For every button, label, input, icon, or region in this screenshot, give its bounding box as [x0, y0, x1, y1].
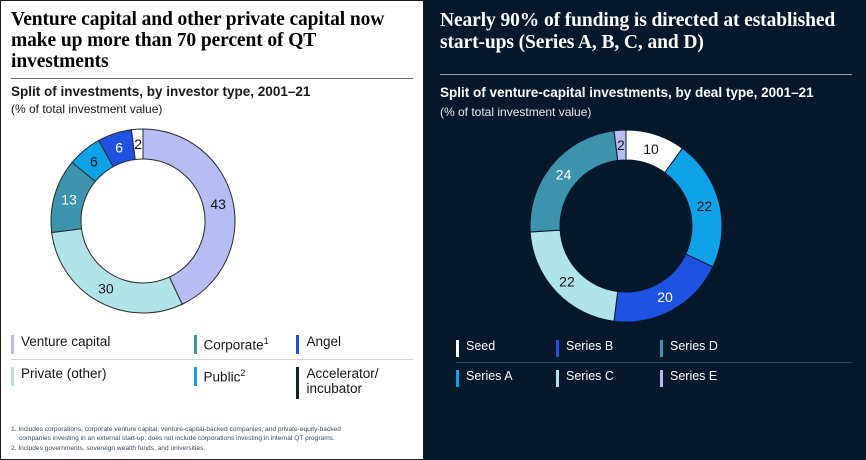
legend-swatch — [556, 370, 559, 387]
left-subtitle: Split of investments, by investor type, … — [11, 84, 413, 100]
donut-slice[interactable] — [665, 148, 722, 267]
right-donut-chart: 10222022242 — [506, 121, 746, 331]
donut-slice[interactable] — [530, 131, 618, 232]
footnote-1: 1. Includes corporations, corporate vent… — [11, 425, 413, 443]
left-donut-chart: 433013662 — [33, 120, 253, 325]
left-headline-rule — [11, 78, 413, 79]
legend-swatch — [296, 335, 299, 354]
donut-slice[interactable] — [143, 129, 235, 304]
legend-item-public[interactable]: Public2 — [194, 366, 297, 386]
right-donut-svg: 10222022242 — [506, 121, 746, 331]
donut-slice[interactable] — [52, 229, 182, 313]
left-donut-svg: 433013662 — [33, 120, 253, 325]
legend-label: Series D — [670, 339, 718, 354]
legend-swatch — [456, 340, 459, 357]
legend-item-private-other[interactable]: Private (other) — [11, 366, 194, 386]
legend-swatch — [556, 340, 559, 357]
footnote-marker: 2 — [240, 368, 245, 378]
legend-swatch — [660, 370, 663, 387]
right-legend: Seed Series B Series D Series A — [440, 339, 852, 387]
legend-row: Private (other) Public2 Accelerator/ inc… — [11, 366, 413, 399]
legend-item-accelerator-incubator[interactable]: Accelerator/ incubator — [296, 366, 413, 399]
donut-slice-value: 2 — [134, 136, 142, 152]
legend-divider — [11, 359, 413, 360]
legend-label: Series C — [566, 369, 614, 384]
right-headline: Nearly 90% of funding is directed at est… — [440, 10, 852, 54]
legend-swatch — [456, 370, 459, 387]
donut-slice-value: 13 — [61, 191, 77, 207]
legend-swatch — [11, 367, 14, 386]
donut-slice-value: 22 — [697, 198, 713, 214]
left-footnotes: 1. Includes corporations, corporate vent… — [11, 425, 413, 454]
right-chart-area: 10222022242 — [440, 121, 852, 331]
legend-label: Series B — [566, 339, 613, 354]
legend-label: Private (other) — [21, 366, 107, 381]
donut-slice-value: 20 — [657, 289, 673, 305]
legend-row: Venture capital Corporate1 Angel — [11, 334, 413, 354]
left-legend: Venture capital Corporate1 Angel Private… — [11, 334, 413, 399]
legend-item-seed[interactable]: Seed — [456, 339, 556, 357]
footnote-1-line-1: 1. Includes corporations, corporate vent… — [11, 426, 341, 433]
legend-label: Accelerator/ incubator — [306, 366, 398, 396]
legend-item-series-c[interactable]: Series C — [556, 369, 660, 387]
legend-item-angel[interactable]: Angel — [296, 334, 413, 354]
legend-label: Venture capital — [21, 334, 110, 349]
donut-slice-value: 24 — [556, 166, 572, 182]
footnote-2: 2. Includes governments, sovereign wealt… — [11, 444, 413, 453]
legend-swatch — [194, 335, 197, 354]
donut-slice-value: 22 — [559, 273, 575, 289]
legend-row: Series A Series C Series E — [456, 369, 852, 387]
legend-item-corporate[interactable]: Corporate1 — [194, 334, 297, 354]
legend-swatch — [194, 367, 197, 386]
left-panel: Venture capital and other private capita… — [0, 0, 424, 460]
right-panel: Nearly 90% of funding is directed at est… — [424, 0, 866, 460]
legend-label: Public2 — [204, 366, 246, 385]
legend-item-venture-capital[interactable]: Venture capital — [11, 334, 194, 354]
legend-label: Angel — [306, 334, 341, 349]
legend-item-series-a[interactable]: Series A — [456, 369, 556, 387]
legend-label: Seed — [466, 339, 495, 354]
right-units: (% of total investment value) — [440, 105, 852, 119]
donut-slice-value: 6 — [115, 140, 123, 156]
right-subtitle: Split of venture-capital investments, by… — [440, 84, 852, 101]
donut-slice-value: 10 — [643, 141, 659, 157]
footnote-1-line-2: companies investing in an external start… — [11, 434, 413, 443]
right-headline-rule — [440, 74, 852, 75]
legend-item-series-b[interactable]: Series B — [556, 339, 660, 357]
legend-item-series-d[interactable]: Series D — [660, 339, 770, 357]
left-units: (% of total investment value) — [11, 102, 413, 116]
donut-slice-value: 2 — [617, 137, 625, 153]
footnote-marker: 1 — [264, 336, 269, 346]
figure-pair: Venture capital and other private capita… — [0, 0, 866, 460]
legend-swatch — [660, 340, 663, 357]
left-headline: Venture capital and other private capita… — [11, 9, 413, 72]
legend-label: Series E — [670, 369, 717, 384]
left-chart-area: 433013662 — [11, 120, 413, 328]
legend-row: Seed Series B Series D — [456, 339, 852, 357]
legend-swatch — [296, 367, 299, 399]
donut-slice-value: 30 — [98, 280, 114, 296]
donut-slice-value: 43 — [210, 196, 226, 212]
donut-slice-value: 6 — [90, 154, 98, 170]
legend-item-series-e[interactable]: Series E — [660, 369, 770, 387]
legend-swatch — [11, 335, 14, 354]
legend-label: Corporate1 — [204, 334, 269, 353]
legend-divider — [456, 362, 852, 363]
legend-label: Series A — [466, 369, 513, 384]
